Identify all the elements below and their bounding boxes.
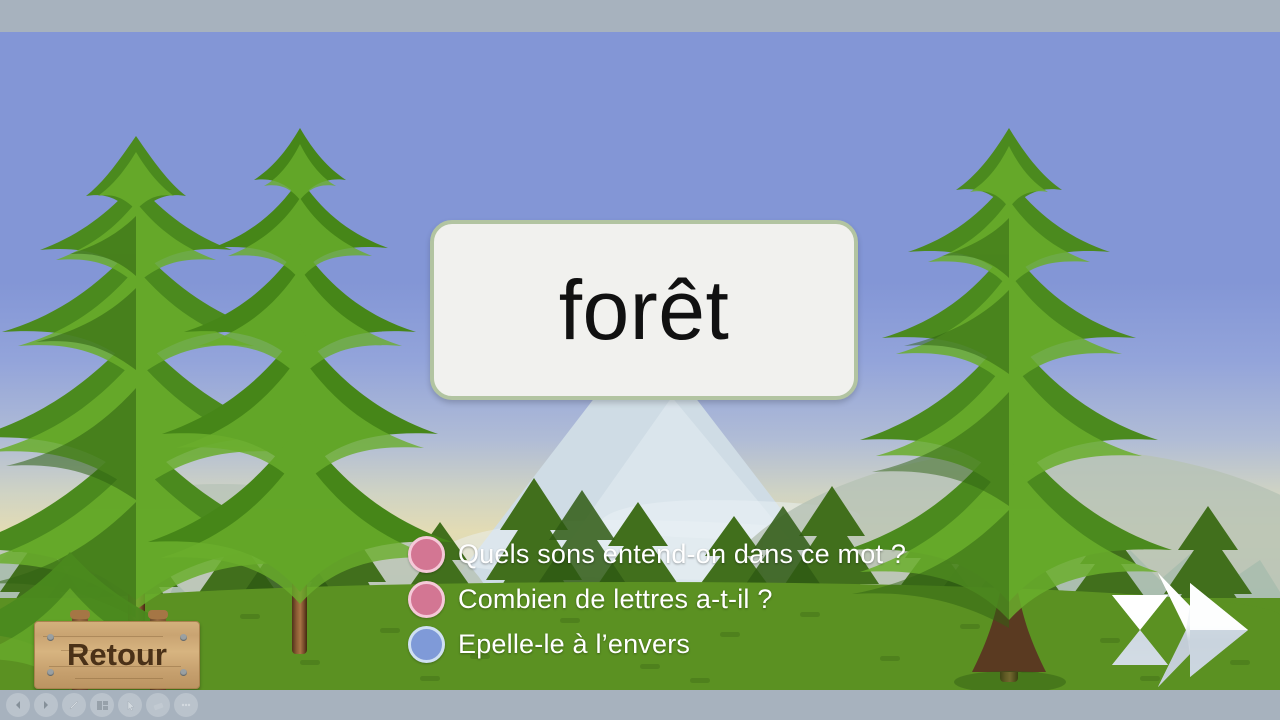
bullet-dot-icon (408, 626, 445, 663)
slide-canvas: forêt Quels sons entend-on dans ce mot ?… (0, 32, 1280, 690)
next-slide-icon[interactable] (34, 693, 58, 717)
window-top-bar (0, 0, 1280, 32)
previous-slide-icon[interactable] (6, 693, 30, 717)
more-options-icon[interactable] (174, 693, 198, 717)
question-item[interactable]: Combien de lettres a-t-il ? (408, 577, 906, 622)
presentation-toolbar (6, 692, 198, 718)
back-button-label: Retour (35, 622, 199, 688)
presentation-window: forêt Quels sons entend-on dans ce mot ?… (0, 0, 1280, 720)
sign-board: Retour (34, 621, 200, 689)
layout-icon[interactable] (90, 693, 114, 717)
question-text: Quels sons entend-on dans ce mot ? (458, 539, 906, 570)
question-text: Epelle-le à l’envers (458, 629, 690, 660)
word-text: forêt (559, 268, 730, 352)
pen-icon[interactable] (62, 693, 86, 717)
back-button[interactable]: Retour (28, 597, 204, 690)
pointer-icon[interactable] (118, 693, 142, 717)
next-arrow-shape[interactable] (1112, 540, 1248, 687)
word-card[interactable]: forêt (430, 220, 858, 400)
eraser-icon[interactable] (146, 693, 170, 717)
question-item[interactable]: Epelle-le à l’envers (408, 622, 906, 667)
bullet-dot-icon (408, 536, 445, 573)
bullet-dot-icon (408, 581, 445, 618)
question-text: Combien de lettres a-t-il ? (458, 584, 773, 615)
sign-post-cap-left (70, 610, 90, 619)
question-item[interactable]: Quels sons entend-on dans ce mot ? (408, 532, 906, 577)
question-list: Quels sons entend-on dans ce mot ? Combi… (408, 532, 906, 667)
sign-post-cap-right (148, 610, 168, 619)
